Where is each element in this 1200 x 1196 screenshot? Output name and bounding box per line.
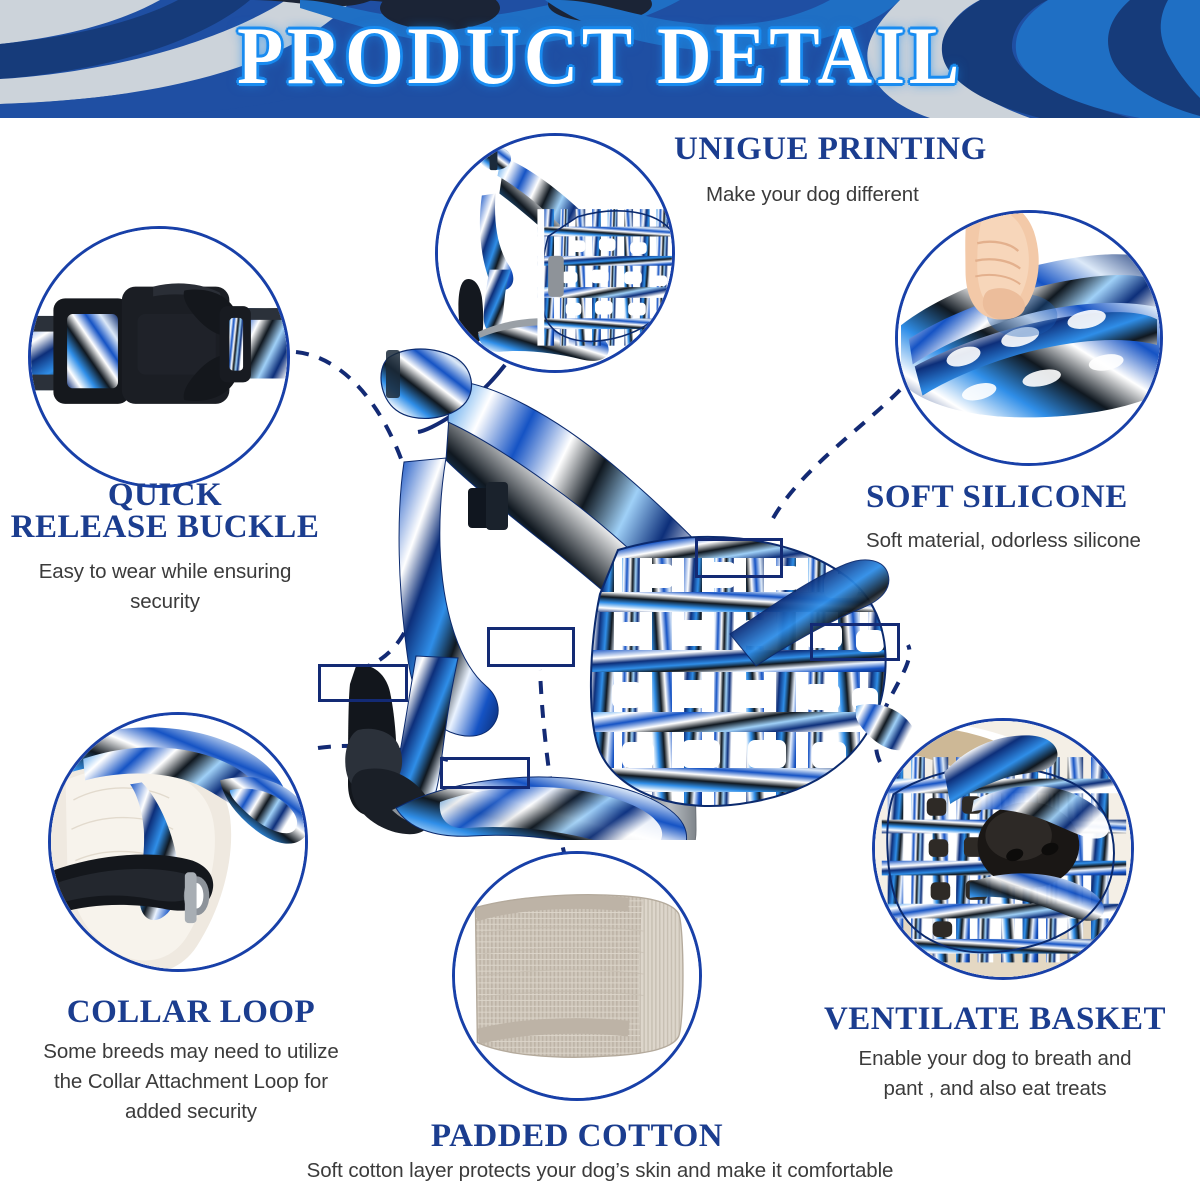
marker-silicone-basket	[695, 538, 783, 578]
center-product-muzzle	[300, 340, 900, 840]
marker-padded-cotton	[487, 627, 575, 667]
header-banner: PRODUCT DETAIL	[0, 0, 1200, 118]
callout-circle-soft-silicone	[895, 210, 1163, 466]
product-detail-infographic: PRODUCT DETAIL	[0, 0, 1200, 1196]
dog-neck-collar-loop-photo	[48, 712, 308, 972]
feature-title-padded-cotton: PADDED COTTON	[377, 1118, 777, 1155]
feature-subtitle-collar-loop-line2: the Collar Attachment Loop for	[0, 1067, 382, 1097]
feature-subtitle-padded-cotton: Soft cotton layer protects your dog’s sk…	[200, 1156, 1000, 1186]
black-quick-release-buckle-photo	[28, 226, 290, 488]
callout-circle-padded-cotton	[452, 851, 702, 1101]
marker-ventilate-basket	[810, 623, 900, 661]
feature-title-quick-release-buckle-line2: RELEASE BUCKLE	[0, 509, 330, 546]
callout-circle-collar-loop	[48, 712, 308, 972]
feature-subtitle-soft-silicone: Soft material, odorless silicone	[866, 526, 1200, 556]
marker-quick-release-buckle	[318, 664, 408, 702]
feature-subtitle-collar-loop-line3: added security	[0, 1097, 382, 1127]
finger-pressing-silicone-photo	[895, 210, 1163, 466]
feature-subtitle-collar-loop-line1: Some breeds may need to utilize	[0, 1037, 382, 1067]
feature-subtitle-ventilate-basket-line2: pant , and also eat treats	[790, 1074, 1200, 1104]
feature-subtitle-quick-release-buckle-line2: security	[0, 587, 330, 617]
muzzle-full-product-photo	[435, 133, 675, 373]
feature-subtitle-quick-release-buckle-line1: Easy to wear while ensuring	[0, 557, 330, 587]
callout-circle-quick-release-buckle	[28, 226, 290, 488]
feature-subtitle-unique-printing: Make your dog different	[706, 180, 1046, 210]
partial-strap-fragment	[856, 700, 916, 770]
feature-subtitle-ventilate-basket-line1: Enable your dog to breath and	[790, 1044, 1200, 1074]
feature-title-unique-printing: UNIGUE PRINTING	[674, 131, 1054, 168]
feature-title-collar-loop: COLLAR LOOP	[0, 994, 382, 1031]
marker-collar-loop	[440, 757, 530, 789]
feature-title-ventilate-basket: VENTILATE BASKET	[790, 1001, 1200, 1038]
beige-knitted-cotton-padding-photo	[452, 851, 702, 1101]
feature-title-soft-silicone: SOFT SILICONE	[866, 479, 1200, 516]
banner-title: PRODUCT DETAIL	[48, 6, 1152, 106]
callout-circle-unique-printing	[435, 133, 675, 373]
